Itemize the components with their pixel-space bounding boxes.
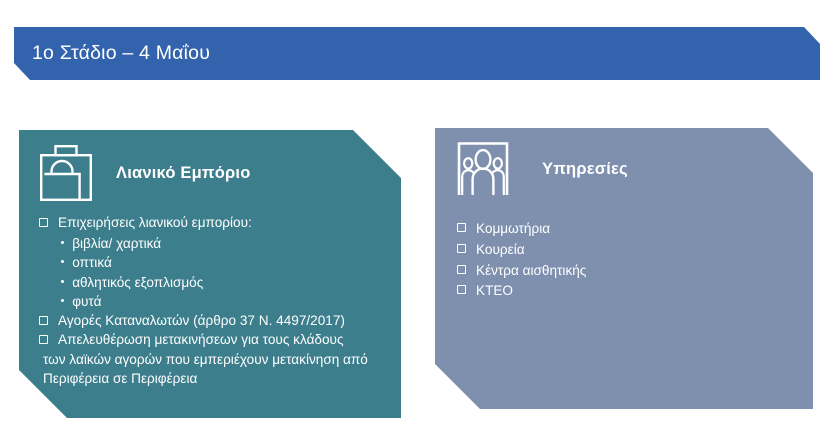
list-item-label: Απελευθέρωση μετακινήσεων για τους κλάδο…: [58, 331, 401, 350]
stage-header-banner: 1ο Στάδιο – 4 Μαΐου: [14, 27, 820, 80]
list-item: φυτά: [61, 292, 401, 311]
checkbox-bullet-icon: [457, 265, 466, 274]
list-item: οπτικά: [61, 253, 401, 272]
card-retail-header: Λιανικό Εμπόριο: [19, 130, 401, 202]
checkbox-bullet-icon: [39, 218, 48, 227]
card-services: Υπηρεσίες Κομμωτήρια Κουρεία Κέντρα αισθ…: [435, 128, 813, 409]
list-item-label: φυτά: [72, 292, 101, 311]
list-item-label: βιβλία/ χαρτικά: [72, 234, 161, 253]
checkbox-bullet-icon: [457, 223, 466, 232]
card-services-list: Κομμωτήρια Κουρεία Κέντρα αισθητικής ΚΤΕ…: [435, 219, 813, 301]
card-retail-sublist: βιβλία/ χαρτικά οπτικά αθλητικός εξοπλισ…: [39, 234, 401, 312]
card-retail-list: Επιχειρήσεις λιανικού εμπορίου: βιβλία/ …: [19, 214, 401, 389]
list-item: Κέντρα αισθητικής: [457, 261, 813, 280]
card-services-title: Υπηρεσίες: [542, 160, 628, 179]
checkbox-bullet-icon: [457, 285, 466, 294]
dot-bullet-icon: [61, 280, 64, 283]
list-item: Κουρεία: [457, 240, 813, 259]
dot-bullet-icon: [61, 241, 64, 244]
dot-bullet-icon: [61, 299, 64, 302]
checkbox-bullet-icon: [39, 316, 48, 325]
list-item: ΚΤΕΟ: [457, 281, 813, 300]
list-item: Απελευθέρωση μετακινήσεων για τους κλάδο…: [39, 331, 401, 350]
list-item-label: Αγορές Καταναλωτών (άρθρο 37 Ν. 4497/201…: [58, 312, 401, 331]
shopping-bag-briefcase-icon: [38, 144, 94, 202]
list-item: Αγορές Καταναλωτών (άρθρο 37 Ν. 4497/201…: [39, 312, 401, 331]
card-services-header: Υπηρεσίες: [435, 128, 813, 197]
list-item-continuation: των λαϊκών αγορών που εμπεριέχουν μετακί…: [39, 351, 401, 389]
list-item-label: Επιχειρήσεις λιανικού εμπορίου:: [58, 214, 401, 233]
list-item-label: αθλητικός εξοπλισμός: [72, 273, 203, 292]
list-item-label: Κομμωτήρια: [476, 219, 813, 238]
list-item: Επιχειρήσεις λιανικού εμπορίου:: [39, 214, 401, 233]
list-item-label: Κέντρα αισθητικής: [476, 261, 813, 280]
list-item: βιβλία/ χαρτικά: [61, 234, 401, 253]
checkbox-bullet-icon: [39, 335, 48, 344]
group-of-people-icon: [456, 141, 510, 197]
list-item-label: ΚΤΕΟ: [476, 281, 813, 300]
dot-bullet-icon: [61, 260, 64, 263]
card-retail-title: Λιανικό Εμπόριο: [116, 164, 251, 183]
list-item-label: οπτικά: [72, 253, 112, 272]
page-title: 1ο Στάδιο – 4 Μαΐου: [14, 42, 210, 65]
list-item-label: Κουρεία: [476, 240, 813, 259]
list-item: αθλητικός εξοπλισμός: [61, 273, 401, 292]
list-item: Κομμωτήρια: [457, 219, 813, 238]
checkbox-bullet-icon: [457, 244, 466, 253]
card-retail: Λιανικό Εμπόριο Επιχειρήσεις λιανικού εμ…: [19, 130, 401, 418]
